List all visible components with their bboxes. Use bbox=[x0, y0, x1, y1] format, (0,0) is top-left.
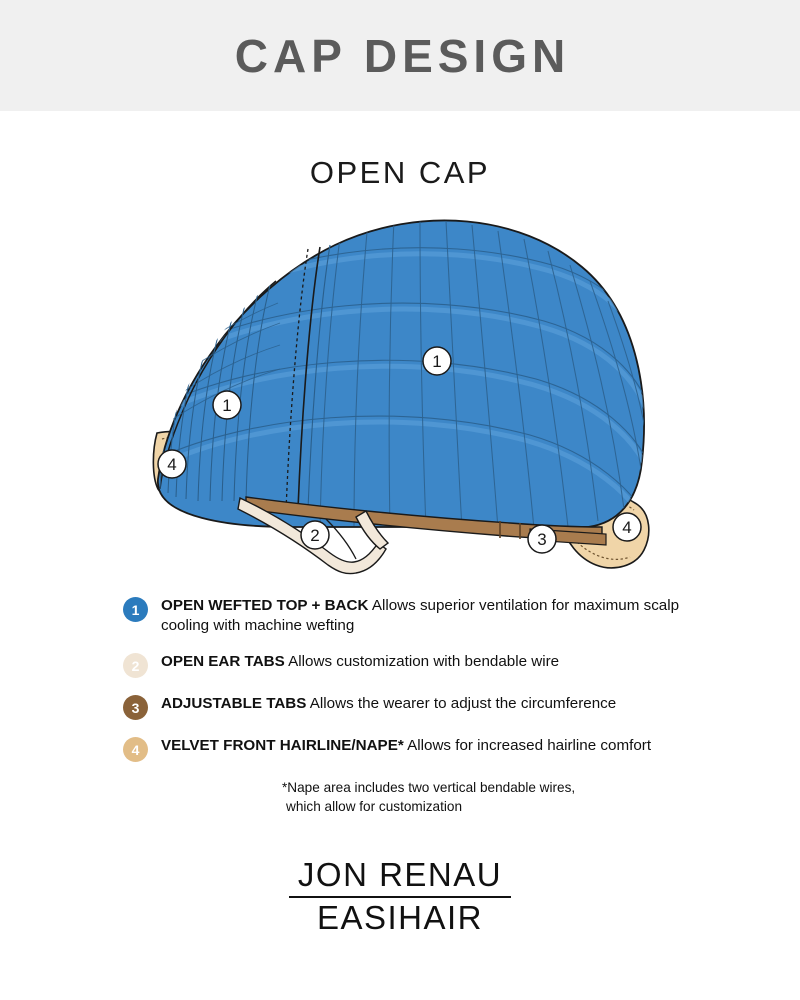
open-cap-illustration: 1 1 2 3 4 4 bbox=[120, 199, 680, 589]
page-title: CAP DESIGN bbox=[230, 33, 570, 79]
logo-line-easihair: EASIHAIR bbox=[0, 901, 800, 936]
marker-4-front-label: 4 bbox=[167, 455, 176, 474]
marker-1-top: 1 bbox=[423, 347, 451, 375]
legend-badge-4: 4 bbox=[123, 737, 148, 762]
cap-body bbox=[156, 219, 652, 529]
marker-2: 2 bbox=[301, 521, 329, 549]
header-band: CAP DESIGN bbox=[0, 0, 800, 111]
legend-badge-2: 2 bbox=[123, 653, 148, 678]
legend-desc-4: Allows for increased hairline comfort bbox=[404, 737, 651, 754]
marker-4-nape-label: 4 bbox=[622, 518, 631, 537]
legend-term-2: OPEN EAR TABS bbox=[161, 653, 285, 670]
legend-desc-3: Allows the wearer to adjust the circumfe… bbox=[306, 695, 616, 712]
marker-4-front: 4 bbox=[158, 450, 186, 478]
footnote-line-1: *Nape area includes two vertical bendabl… bbox=[282, 778, 800, 797]
legend-list: 1 OPEN WEFTED TOP + BACK Allows superior… bbox=[0, 596, 800, 816]
legend-term-3: ADJUSTABLE TABS bbox=[161, 695, 306, 712]
marker-1-left-label: 1 bbox=[222, 396, 231, 415]
legend-badge-1: 1 bbox=[123, 597, 148, 622]
legend-term-4: VELVET FRONT HAIRLINE/NAPE* bbox=[161, 737, 404, 754]
marker-1-top-label: 1 bbox=[432, 352, 441, 371]
legend-item-2: 2 OPEN EAR TABS Allows customization wit… bbox=[123, 652, 800, 678]
legend-text-2: OPEN EAR TABS Allows customization with … bbox=[161, 652, 559, 672]
brand-logo: JON RENAU EASIHAIR bbox=[0, 858, 800, 935]
marker-4-nape: 4 bbox=[613, 513, 641, 541]
marker-3: 3 bbox=[528, 525, 556, 553]
section-subtitle: OPEN CAP bbox=[310, 155, 490, 190]
legend-text-1: OPEN WEFTED TOP + BACK Allows superior v… bbox=[161, 596, 721, 636]
marker-1-left: 1 bbox=[213, 391, 241, 419]
logo-line-jon-renau: JON RENAU bbox=[0, 858, 800, 893]
legend-desc-2: Allows customization with bendable wire bbox=[285, 653, 559, 670]
marker-3-label: 3 bbox=[537, 530, 546, 549]
cap-diagram-container: 1 1 2 3 4 4 bbox=[0, 199, 800, 594]
legend-footnote: *Nape area includes two vertical bendabl… bbox=[282, 778, 800, 816]
legend-text-4: VELVET FRONT HAIRLINE/NAPE* Allows for i… bbox=[161, 736, 651, 756]
footnote-line-2: which allow for customization bbox=[282, 797, 800, 816]
subtitle-container: OPEN CAP bbox=[0, 155, 800, 191]
marker-2-label: 2 bbox=[310, 526, 319, 545]
legend-badge-3: 3 bbox=[123, 695, 148, 720]
logo-divider bbox=[289, 896, 511, 898]
legend-item-4: 4 VELVET FRONT HAIRLINE/NAPE* Allows for… bbox=[123, 736, 800, 762]
legend-item-1: 1 OPEN WEFTED TOP + BACK Allows superior… bbox=[123, 596, 800, 636]
legend-text-3: ADJUSTABLE TABS Allows the wearer to adj… bbox=[161, 694, 616, 714]
legend-item-3: 3 ADJUSTABLE TABS Allows the wearer to a… bbox=[123, 694, 800, 720]
legend-term-1: OPEN WEFTED TOP + BACK bbox=[161, 597, 368, 614]
